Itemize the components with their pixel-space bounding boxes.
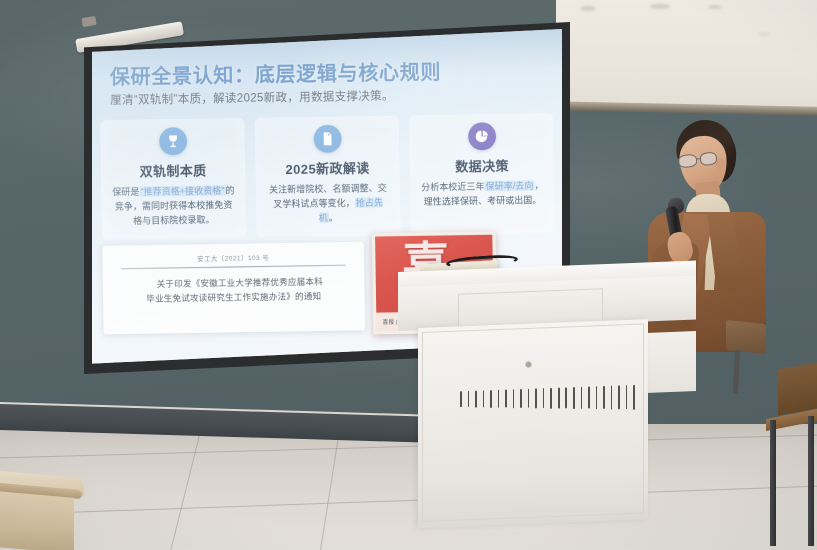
card-title: 双轨制本质: [139, 160, 206, 181]
vent-slat: [626, 385, 628, 409]
podium-side-face: [646, 331, 696, 393]
card-body-highlight: “推荐资格+接收资格”: [139, 185, 225, 197]
right-wall-panel: [556, 0, 817, 110]
vent-slat: [498, 390, 500, 408]
desk-left-body: [0, 490, 74, 550]
card-body-highlight: 保研率/去向: [484, 180, 534, 191]
vent-slat: [460, 391, 462, 407]
podium-door[interactable]: [422, 323, 644, 522]
card-title: 数据决策: [455, 155, 509, 175]
card-body: 分析本校近三年保研率/去向，理性选择保研、考研或出国。: [416, 179, 548, 209]
slide-title: 保研全景认知：底层逻辑与核心规则: [110, 55, 442, 90]
vent-slat: [483, 390, 485, 407]
vent-slat: [535, 388, 537, 408]
pie-chart-icon: [467, 122, 495, 150]
vent-slat: [588, 386, 590, 408]
card-policy-2025: 2025新政解读 关注新增院校、名额调整、交叉学科试点等变化，抢占先机。: [255, 116, 401, 238]
vent-slat: [550, 388, 552, 409]
vent-slat: [528, 389, 530, 408]
vent-slat: [558, 388, 560, 409]
official-document-panel: 安工大〔2021〕103 号 关于印发《安徽工业大学推荐优秀应届本科 毕业生免试…: [102, 242, 365, 335]
card-body: 保研是“推荐资格+接收资格”的竞争，需同时获得本校推免资格与目标院校录取。: [107, 184, 239, 229]
vent-slat: [618, 385, 620, 409]
card-body-prefix: 分析本校近三年: [421, 181, 485, 192]
vent-slat: [633, 385, 635, 410]
podium: [398, 272, 696, 550]
vent-slat: [581, 387, 583, 409]
vent-slat: [475, 391, 477, 408]
card-dual-track: 双轨制本质 保研是“推荐资格+接收资格”的竞争，需同时获得本校推免资格与目标院校…: [100, 118, 246, 240]
vent-slat: [596, 386, 598, 409]
vent-slat: [543, 388, 545, 408]
slide-cards: 双轨制本质 保研是“推荐资格+接收资格”的竞争，需同时获得本校推免资格与目标院校…: [100, 113, 555, 240]
vent-slat: [565, 387, 567, 408]
card-title: 2025新政解读: [285, 157, 369, 178]
vent-slat: [603, 386, 605, 409]
desk-right-panel: [778, 363, 817, 416]
card-body-prefix: 保研是: [112, 187, 139, 198]
card-data-decision: 数据决策 分析本校近三年保研率/去向，理性选择保研、考研或出国。: [409, 113, 555, 235]
podium-lock-icon[interactable]: [526, 362, 531, 367]
slide-subtitle: 厘清“双轨制”本质，解读2025新政，用数据支撑决策。: [110, 87, 394, 108]
vent-slat: [468, 391, 470, 407]
vent-slat: [490, 390, 492, 408]
document-number: 安工大〔2021〕103 号: [197, 253, 269, 263]
vent-slat: [513, 389, 515, 408]
document-icon: [313, 125, 341, 153]
vent-slat: [505, 389, 507, 407]
card-body: 关注新增院校、名额调整、交叉学科试点等变化，抢占先机。: [262, 182, 394, 227]
vent-slat: [520, 389, 522, 408]
vent-slat: [611, 386, 613, 410]
desk-right: [756, 366, 817, 550]
document-rule: [121, 265, 345, 270]
trophy-icon: [159, 127, 187, 155]
vent-slat: [573, 387, 575, 409]
lecture-hall-scene: 保研全景认知：底层逻辑与核心规则 厘清“双轨制”本质，解读2025新政，用数据支…: [0, 0, 817, 550]
card-body-suffix: 。: [329, 212, 338, 222]
document-line-2: 毕业生免试攻读研究生工作实施办法》的通知: [146, 290, 321, 307]
desk-left: [0, 474, 84, 550]
chair-backrest: [726, 320, 766, 354]
lens-left: [677, 154, 697, 169]
lens-right: [699, 151, 717, 166]
